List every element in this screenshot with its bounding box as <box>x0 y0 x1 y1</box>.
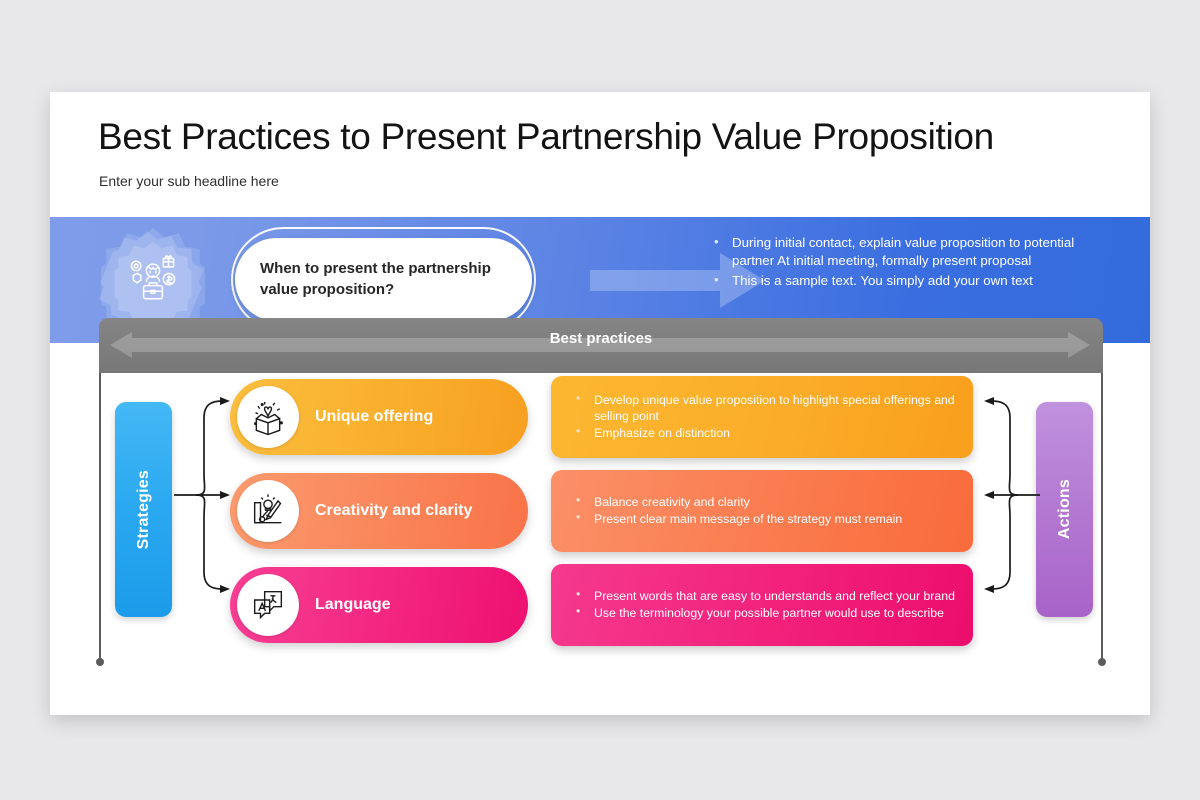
page-subtitle: Enter your sub headline here <box>99 173 279 189</box>
banner-bullet-list: During initial contact, explain value pr… <box>710 234 1112 292</box>
question-text: When to present the partnership value pr… <box>235 259 532 300</box>
question-pill[interactable]: When to present the partnership value pr… <box>235 238 532 321</box>
slide-header: Best Practices to Present Partnership Va… <box>50 92 1150 217</box>
open-gift-box-icon <box>237 386 299 448</box>
page-title: Best Practices to Present Partnership Va… <box>98 116 994 158</box>
strategy-card-unique-offering[interactable]: Unique offering <box>230 379 528 455</box>
best-practices-label: Best practices <box>99 330 1103 347</box>
detail-card-unique-offering[interactable]: Develop unique value proposition to high… <box>551 376 973 458</box>
partnership-benefits-icon <box>123 250 183 310</box>
detail-bullet: Balance creativity and clarity <box>561 494 957 510</box>
practice-row: Language Present words that are easy to … <box>50 558 1150 652</box>
detail-card-language[interactable]: Present words that are easy to understan… <box>551 564 973 646</box>
practice-row: Unique offering Develop unique value pro… <box>50 370 1150 464</box>
detail-bullet: Present words that are easy to understan… <box>561 588 957 604</box>
left-rail-dot <box>96 658 104 666</box>
right-rail-dot <box>1098 658 1106 666</box>
banner-bullet: This is a sample text. You simply add yo… <box>710 272 1112 290</box>
detail-bullet-list: Present words that are easy to understan… <box>551 588 973 622</box>
detail-bullet-list: Balance creativity and clarity Present c… <box>551 494 973 528</box>
strategy-title: Language <box>315 596 391 614</box>
practice-row: Creativity and clarity Balance creativit… <box>50 464 1150 558</box>
detail-bullet-list: Develop unique value proposition to high… <box>551 392 973 443</box>
translation-speech-bubbles-icon <box>237 574 299 636</box>
strategy-title: Creativity and clarity <box>315 502 472 520</box>
detail-card-creativity-and-clarity[interactable]: Balance creativity and clarity Present c… <box>551 470 973 552</box>
slide: Best Practices to Present Partnership Va… <box>50 92 1150 715</box>
partnership-benefits-badge <box>101 228 205 332</box>
strategy-card-language[interactable]: Language <box>230 567 528 643</box>
detail-bullet: Use the terminology your possible partne… <box>561 605 957 621</box>
strategy-title: Unique offering <box>315 408 433 426</box>
creative-design-tools-icon <box>237 480 299 542</box>
strategy-card-creativity-and-clarity[interactable]: Creativity and clarity <box>230 473 528 549</box>
best-practices-container: Best practices <box>99 318 1103 373</box>
detail-bullet: Develop unique value proposition to high… <box>561 392 957 424</box>
detail-bullet: Emphasize on distinction <box>561 425 957 441</box>
detail-bullet: Present clear main message of the strate… <box>561 511 957 527</box>
banner-bullet: During initial contact, explain value pr… <box>710 234 1112 270</box>
